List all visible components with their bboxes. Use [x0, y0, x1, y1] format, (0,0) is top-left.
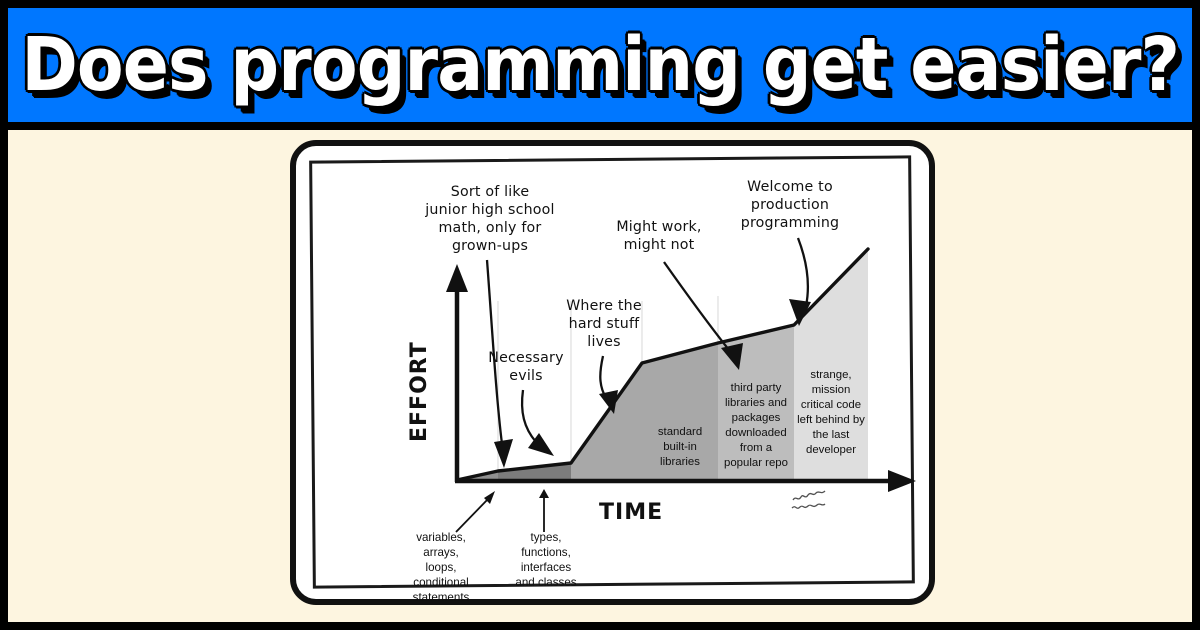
svg-text:math, only for: math, only for: [439, 220, 542, 236]
annotation-variables-arrays: variables, arrays, loops, conditional st…: [413, 491, 495, 604]
svg-text:popular repo: popular repo: [724, 457, 788, 469]
svg-text:libraries: libraries: [660, 456, 700, 468]
artist-signature: [792, 491, 825, 508]
annotation-sort-of-like: Sort of like junior high school math, on…: [424, 184, 554, 468]
svg-text:might not: might not: [624, 237, 695, 253]
comic-panel: EFFORT TIME standard built-in libraries …: [290, 140, 935, 605]
svg-text:the last: the last: [813, 429, 851, 441]
annotation-arrow-welcome-to-production: [798, 238, 808, 306]
annotation-arrow-where-hard-stuff-lives: [600, 356, 606, 398]
svg-text:lives: lives: [587, 334, 620, 350]
svg-text:arrays,: arrays,: [423, 546, 458, 559]
page-title: Does programming get easier?: [21, 28, 1179, 102]
svg-text:interfaces: interfaces: [521, 561, 571, 574]
content-area: EFFORT TIME standard built-in libraries …: [8, 130, 1192, 622]
annotation-arrow-necessary-evils: [522, 390, 536, 442]
svg-text:left behind by: left behind by: [797, 414, 865, 426]
effort-vs-time-chart: EFFORT TIME standard built-in libraries …: [296, 146, 941, 611]
y-axis-arrowhead: [446, 264, 468, 292]
svg-text:and classes: and classes: [515, 576, 576, 589]
svg-text:strange,: strange,: [810, 369, 851, 381]
svg-text:Sort of like: Sort of like: [451, 184, 530, 200]
svg-text:mission: mission: [812, 384, 851, 396]
svg-text:libraries and: libraries and: [725, 397, 787, 409]
svg-text:critical code: critical code: [801, 399, 861, 411]
svg-text:grown-ups: grown-ups: [452, 238, 528, 254]
svg-text:functions,: functions,: [521, 546, 571, 559]
svg-text:loops,: loops,: [426, 561, 457, 574]
svg-text:packages: packages: [732, 412, 781, 424]
svg-text:programming: programming: [741, 215, 840, 231]
svg-text:hard stuff: hard stuff: [569, 316, 641, 332]
annotation-types-functions: types, functions, interfaces and classes: [515, 489, 576, 589]
svg-text:downloaded: downloaded: [725, 427, 786, 439]
title-banner: Does programming get easier?: [8, 8, 1192, 122]
page-root: Does programming get easier?: [0, 0, 1200, 630]
svg-text:Might work,: Might work,: [616, 219, 701, 235]
svg-text:evils: evils: [509, 368, 542, 384]
band-standard-built-in-libraries: [571, 364, 642, 480]
svg-text:third party: third party: [731, 382, 782, 394]
svg-text:types,: types,: [531, 531, 562, 544]
svg-text:statements: statements: [413, 591, 470, 604]
svg-text:from a: from a: [740, 442, 773, 454]
svg-text:production: production: [751, 197, 829, 213]
y-axis-label: EFFORT: [407, 341, 432, 442]
svg-text:Welcome to: Welcome to: [747, 179, 833, 195]
svg-text:built-in: built-in: [663, 441, 697, 453]
svg-text:Necessary: Necessary: [488, 350, 563, 366]
annotation-necessary-evils: Necessary evils: [488, 350, 563, 456]
x-axis-arrowhead: [888, 470, 916, 492]
svg-text:Where the: Where the: [566, 298, 642, 314]
svg-text:standard: standard: [658, 426, 702, 438]
annotation-arrow-might-work: [664, 262, 729, 350]
svg-text:variables,: variables,: [416, 531, 466, 544]
svg-text:developer: developer: [806, 444, 856, 456]
band-label-standard-built-in-libraries: standard built-in libraries: [658, 426, 702, 468]
svg-text:junior high school: junior high school: [424, 202, 554, 218]
annotation-might-work-might-not: Might work, might not: [616, 219, 743, 370]
svg-text:conditional: conditional: [413, 576, 468, 589]
x-axis-label: TIME: [599, 500, 663, 525]
